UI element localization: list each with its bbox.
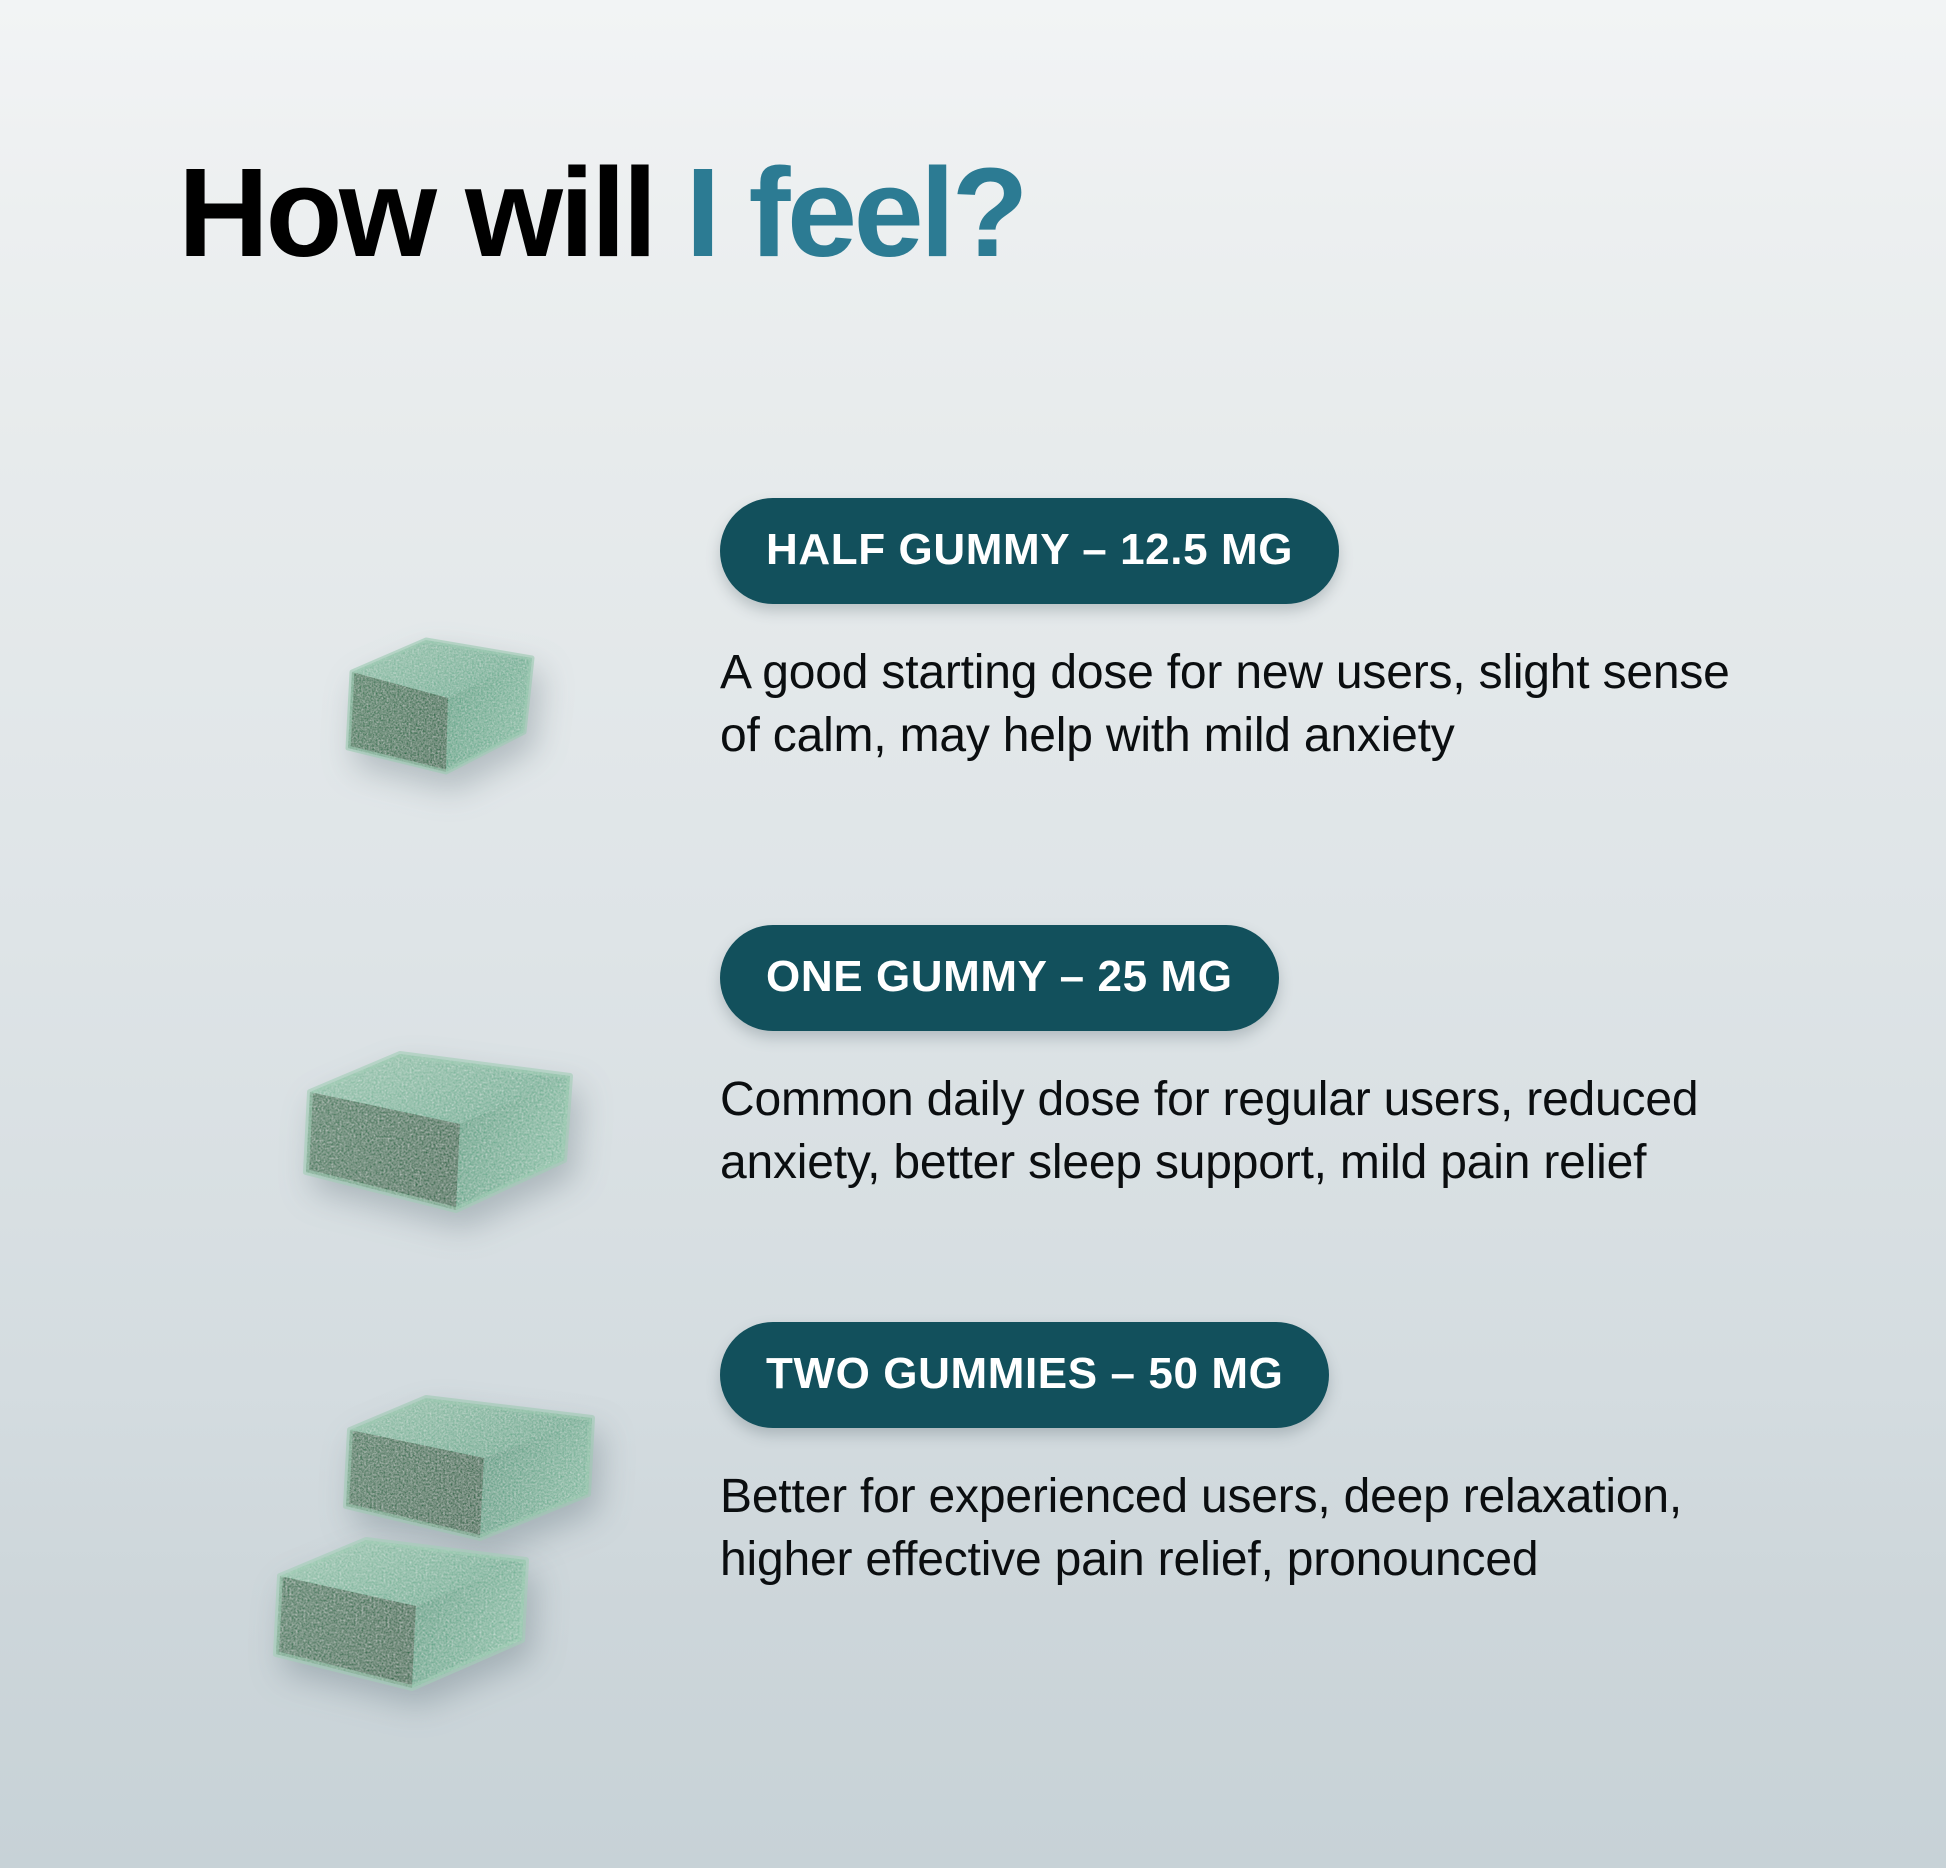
dose-row-one-gummy: ONE GUMMY – 25 MG Common daily dose for … [0,925,1946,1195]
dose-badge-half-gummy[interactable]: HALF GUMMY – 12.5 MG [720,498,1339,604]
page-title: How will I feel? [178,150,1025,276]
two-gummies-text-column: TWO GUMMIES – 50 MG Better for experienc… [720,1322,1946,1592]
dose-description-one-gummy: Common daily dose for regular users, red… [720,1069,1730,1195]
page-title-plain: How will [178,142,686,283]
page-title-accent: I feel? [686,142,1026,283]
dose-badge-one-gummy[interactable]: ONE GUMMY – 25 MG [720,925,1279,1031]
dose-description-two-gummies: Better for experienced users, deep relax… [720,1466,1730,1592]
dose-row-half-gummy: HALF GUMMY – 12.5 MG A good starting dos… [0,498,1946,768]
two-gummies-image-front [262,1520,562,1725]
half-gummy-text-column: HALF GUMMY – 12.5 MG A good starting dos… [720,498,1946,768]
half-gummy-image [318,620,568,820]
dose-row-two-gummies: TWO GUMMIES – 50 MG Better for experienc… [0,1322,1946,1592]
dose-badge-two-gummies[interactable]: TWO GUMMIES – 50 MG [720,1322,1329,1428]
one-gummy-image [288,1032,608,1252]
dose-description-half-gummy: A good starting dose for new users, slig… [720,642,1730,768]
one-gummy-text-column: ONE GUMMY – 25 MG Common daily dose for … [720,925,1946,1195]
